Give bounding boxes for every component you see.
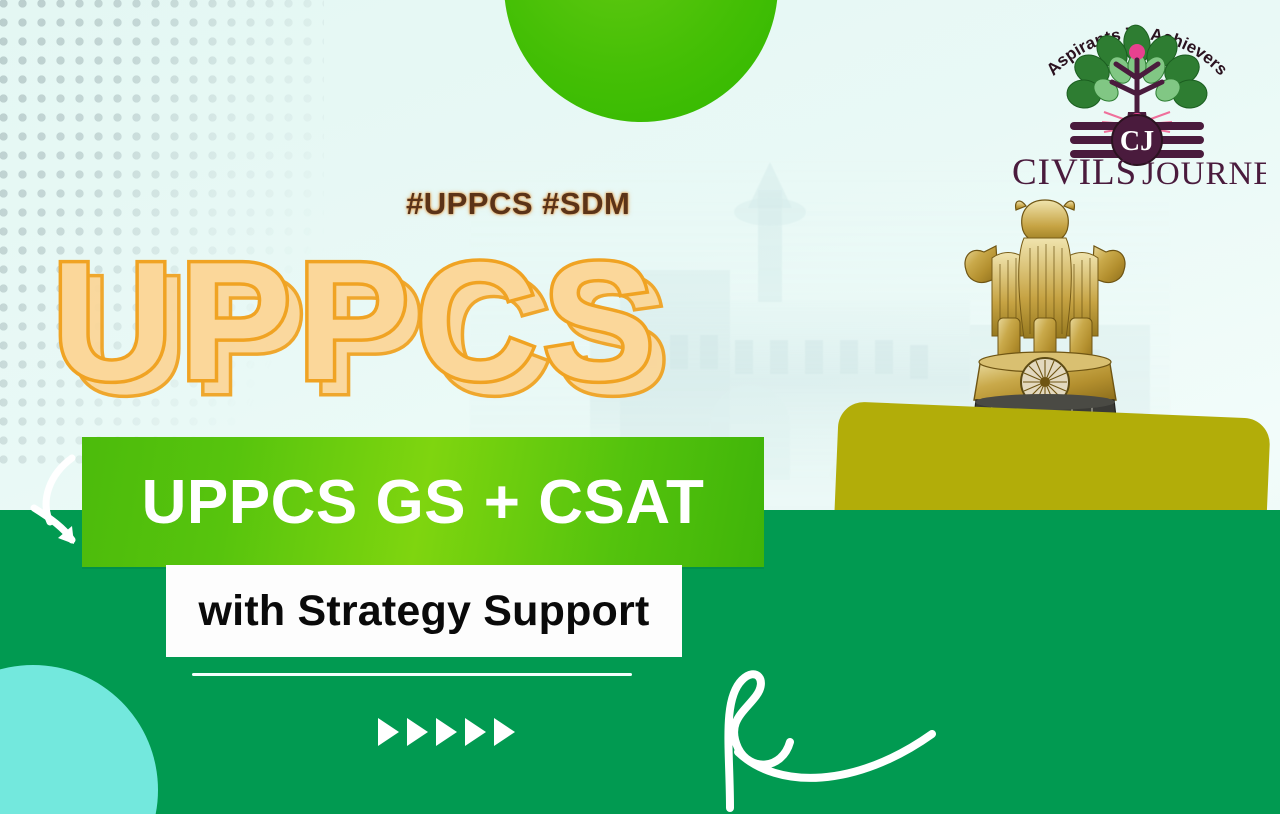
curly-swirl-doodle bbox=[686, 630, 936, 814]
promotional-banner: Aspirants To Achievers bbox=[0, 0, 1280, 814]
subheadline-box: with Strategy Support bbox=[166, 565, 682, 657]
hashtag-line: #UPPCS #SDM bbox=[406, 186, 630, 222]
big-title-group: UPPCS UPPCS bbox=[52, 236, 812, 406]
logo-wordmark-secondary: JOURNEY bbox=[1142, 156, 1266, 186]
logo-wordmark-primary: CIVILS bbox=[1012, 152, 1137, 186]
headline-text: UPPCS GS + CSAT bbox=[142, 467, 705, 538]
headline-bar: UPPCS GS + CSAT bbox=[82, 437, 764, 567]
triangle-arrow-icon bbox=[378, 718, 399, 746]
triangle-arrow-row bbox=[378, 718, 515, 746]
divider-line bbox=[192, 673, 632, 676]
big-title-text: UPPCS bbox=[52, 236, 661, 406]
triangle-arrow-icon bbox=[465, 718, 486, 746]
triangle-arrow-icon bbox=[436, 718, 457, 746]
triangle-arrow-icon bbox=[494, 718, 515, 746]
civils-journey-logo: Aspirants To Achievers bbox=[1008, 8, 1266, 186]
subheadline-text: with Strategy Support bbox=[199, 587, 650, 636]
triangle-arrow-icon bbox=[407, 718, 428, 746]
